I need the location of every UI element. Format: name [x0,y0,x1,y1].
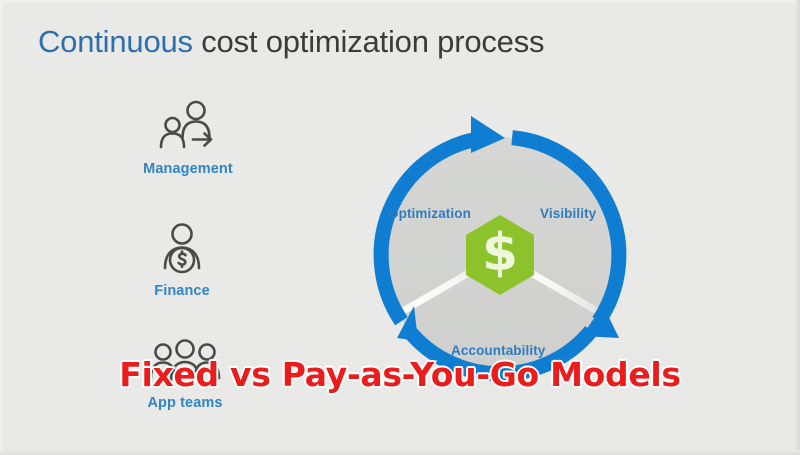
page-title-rest: cost optimization process [193,24,544,59]
page-title-accent: Continuous [38,24,193,59]
stakeholder-finance: Finance [107,222,257,299]
page-title: Continuous cost optimization process [38,24,544,60]
stakeholder-finance-label: Finance [107,283,257,299]
overlay-caption: Fixed vs Pay-as-You-Go Models [0,355,800,394]
people-arrow-icon [113,100,263,152]
slide-frame-bottom-edge [0,450,800,455]
stakeholder-management-label: Management [113,161,263,177]
dollar-symbol: $ [482,223,518,283]
person-coin-icon [107,222,257,274]
slide-frame-top-edge [0,0,800,3]
cycle-label-optimization: Optimization [388,206,471,221]
stakeholder-management: Management [113,100,263,177]
cycle-label-visibility: Visibility [540,206,596,221]
slide-canvas: Continuous cost optimization process Man… [0,0,800,455]
stakeholder-app-teams-label: App teams [110,395,260,411]
